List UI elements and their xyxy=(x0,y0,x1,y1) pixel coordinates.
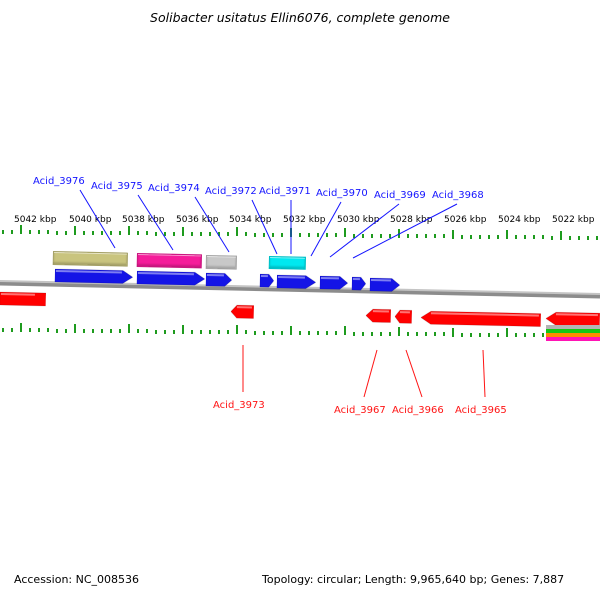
arrow-blue-4[interactable] xyxy=(260,273,274,288)
genome-backbone xyxy=(0,0,600,600)
ruler-tick-label: 5028 kbp xyxy=(390,215,432,225)
gene-label-acid_3976[interactable]: Acid_3976 xyxy=(33,176,85,187)
arrow-red-5[interactable] xyxy=(421,310,541,328)
gene-label-acid_3966[interactable]: Acid_3966 xyxy=(392,405,444,416)
arrow-blue-7[interactable] xyxy=(352,276,366,291)
gene-label-acid_3971[interactable]: Acid_3971 xyxy=(259,186,311,197)
ruler-tick-label: 5034 kbp xyxy=(229,215,271,225)
gene-label-acid_3969[interactable]: Acid_3969 xyxy=(374,190,426,201)
feat-magenta[interactable] xyxy=(137,253,202,268)
genome-stats-text: Topology: circular; Length: 9,965,640 bp… xyxy=(262,573,564,586)
arrow-blue-2[interactable] xyxy=(137,270,205,286)
arrow-red-2[interactable] xyxy=(231,304,254,319)
ruler-tick-label: 5022 kbp xyxy=(552,215,594,225)
ruler-tick-label: 5036 kbp xyxy=(176,215,218,225)
gene-label-acid_3967[interactable]: Acid_3967 xyxy=(334,405,386,416)
gene-label-acid_3970[interactable]: Acid_3970 xyxy=(316,188,368,199)
ruler-tick-label: 5030 kbp xyxy=(337,215,379,225)
feat-gray[interactable] xyxy=(206,255,237,270)
arrow-blue-8[interactable] xyxy=(370,277,400,293)
arrow-blue-5[interactable] xyxy=(277,274,316,290)
arrow-red-3[interactable] xyxy=(366,308,391,324)
arrow-blue-3[interactable] xyxy=(206,272,232,288)
ruler-tick-label: 5040 kbp xyxy=(69,215,111,225)
ruler-tick-label: 5042 kbp xyxy=(14,215,56,225)
feat-khaki[interactable] xyxy=(53,251,128,267)
gene-label-acid_3965[interactable]: Acid_3965 xyxy=(455,405,507,416)
arrow-blue-1[interactable] xyxy=(55,268,133,285)
ruler-tick-label: 5024 kbp xyxy=(498,215,540,225)
gene-label-acid_3975[interactable]: Acid_3975 xyxy=(91,181,143,192)
arrow-blue-6[interactable] xyxy=(320,275,348,291)
stripe-magenta[interactable] xyxy=(546,337,600,341)
ruler-tick-label: 5026 kbp xyxy=(444,215,486,225)
ruler-tick-label: 5032 kbp xyxy=(283,215,325,225)
genome-viewer: Solibacter usitatus Ellin6076, complete … xyxy=(0,0,600,600)
accession-text: Accession: NC_008536 xyxy=(14,573,139,586)
gene-label-acid_3968[interactable]: Acid_3968 xyxy=(432,190,484,201)
gene-label-acid_3973[interactable]: Acid_3973 xyxy=(213,400,265,411)
ruler-tick-label: 5038 kbp xyxy=(122,215,164,225)
arrow-red-1[interactable] xyxy=(0,291,46,307)
feat-cyan[interactable] xyxy=(269,256,306,270)
gene-label-acid_3972[interactable]: Acid_3972 xyxy=(205,186,257,197)
arrow-red-4[interactable] xyxy=(395,309,412,324)
gene-label-acid_3974[interactable]: Acid_3974 xyxy=(148,183,200,194)
